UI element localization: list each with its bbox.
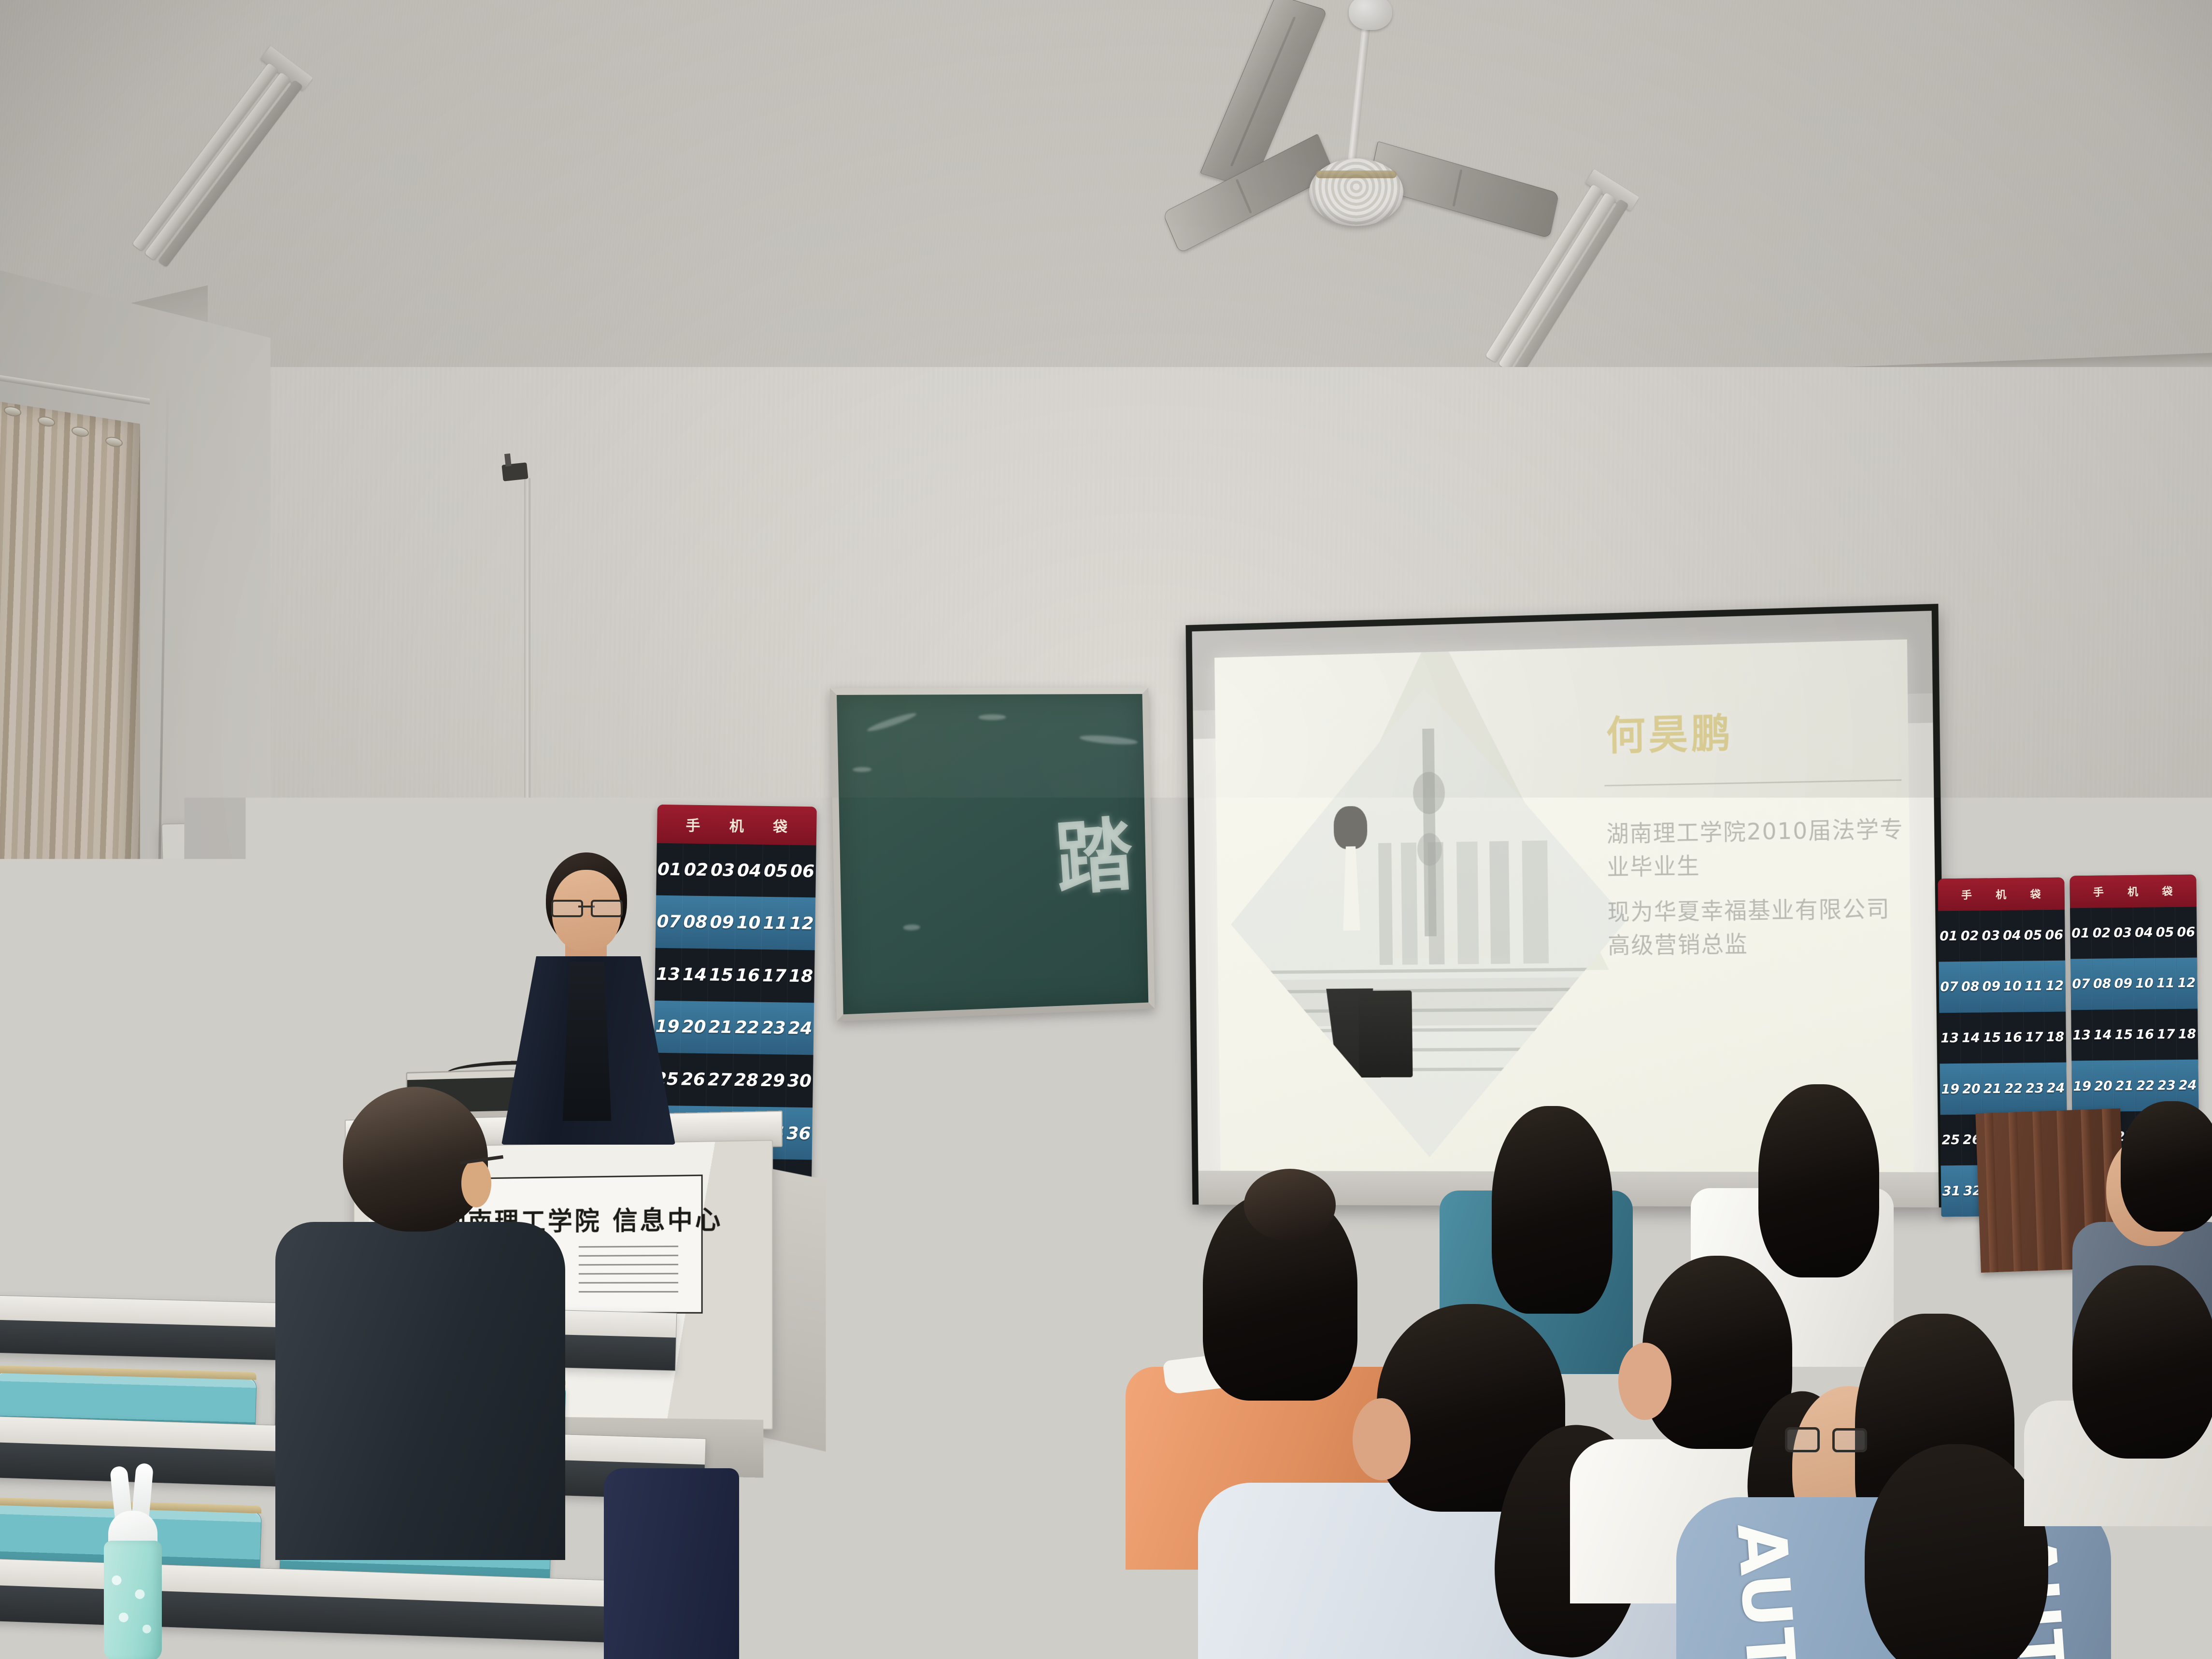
slide-body-line-1: 湖南理工学院2010届法学专业毕业生: [1606, 813, 1909, 884]
phone-pocket[interactable]: 09: [709, 896, 736, 949]
audience-student-far-right-lower: [2043, 1265, 2212, 1497]
phone-pocket[interactable]: 19: [2071, 1061, 2093, 1112]
jacket-back-text: AUT: [1722, 1520, 1810, 1659]
phone-pocket[interactable]: 30: [786, 1055, 813, 1107]
phone-pocket[interactable]: 20: [1961, 1063, 1983, 1115]
phone-pocket[interactable]: 14: [681, 948, 709, 1001]
phone-bag-header-char: 袋: [2030, 886, 2041, 901]
photo-man-bag: [1358, 991, 1413, 1078]
ceiling-fan: [1150, 0, 1584, 304]
smartphone[interactable]: [599, 1324, 696, 1353]
phone-bag-header-char: 机: [729, 814, 745, 836]
slide-diamond-photo: [1228, 682, 1630, 1157]
phone-bag-header-char: 手: [685, 813, 701, 835]
ac-panel-seam: [165, 921, 373, 928]
curtain-grommet: [4, 405, 21, 418]
ac-slot: [249, 936, 298, 941]
phone-pocket[interactable]: 15: [1982, 1012, 2003, 1063]
phone-pocket[interactable]: 10: [2134, 958, 2155, 1009]
ac-barcode-label: [339, 988, 368, 1013]
phone-pocket[interactable]: 08: [1960, 962, 1982, 1013]
phone-pocket[interactable]: 04: [2001, 910, 2023, 961]
phone-pocket[interactable]: 06: [789, 845, 816, 897]
phone-bag-header: 手 机 袋: [1938, 878, 2065, 911]
ac-air-vent: [196, 832, 357, 923]
phone-pocket[interactable]: 25: [1940, 1115, 1962, 1166]
phone-pocket[interactable]: 22: [734, 1002, 761, 1054]
phone-pocket[interactable]: 18: [787, 950, 815, 1003]
phone-pocket[interactable]: 06: [2043, 909, 2065, 961]
curtain-grommet: [38, 415, 55, 428]
phone-pocket[interactable]: 07: [1939, 962, 1960, 1013]
phone-pocket[interactable]: 27: [706, 1053, 734, 1106]
phone-pocket[interactable]: 28: [733, 1054, 760, 1106]
bunny-water-bottle[interactable]: [104, 1463, 162, 1659]
phone-bag-header-char: 机: [2127, 883, 2139, 899]
phone-pocket[interactable]: 02: [2091, 907, 2113, 959]
ac-power-led-icon: [240, 959, 248, 967]
phone-pocket[interactable]: 21: [707, 1001, 735, 1054]
phone-pocket[interactable]: 23: [2024, 1063, 2046, 1114]
phone-pocket[interactable]: 04: [2133, 907, 2155, 958]
phone-pocket[interactable]: 02: [683, 843, 710, 896]
fan-downrod: [1347, 23, 1370, 168]
phone-pocket[interactable]: 17: [761, 950, 788, 1002]
phone-pocket[interactable]: 05: [2155, 907, 2176, 958]
photo-businessman: [1306, 806, 1395, 1068]
student-ear: [1353, 1398, 1411, 1480]
phone-pocket[interactable]: 15: [708, 949, 735, 1001]
phone-bag-header-char: 袋: [773, 815, 788, 836]
phone-pocket[interactable]: 08: [2092, 959, 2113, 1010]
phone-pocket[interactable]: 24: [787, 1002, 814, 1055]
student-hair-bun: [1244, 1169, 1336, 1241]
phone-bag-header-char: 袋: [2162, 883, 2173, 898]
phone-pocket[interactable]: 26: [680, 1053, 707, 1106]
slide-body-line-2: 现为华夏幸福基业有限公司高级营销总监: [1607, 893, 1910, 963]
chalk-smudge: [978, 714, 1006, 720]
phone-pocket[interactable]: 16: [2134, 1009, 2156, 1060]
classroom-scene: 踏 何昊鹏 湖南理工学院: [0, 0, 2212, 1659]
ac-spec-label: [338, 935, 368, 978]
slide-divider-rule: [1604, 780, 1901, 787]
phone-pocket[interactable]: 14: [2092, 1009, 2114, 1061]
man-head: [343, 1087, 488, 1232]
photo-man-head: [1333, 806, 1367, 850]
phone-pocket[interactable]: 01: [1938, 910, 1960, 962]
phone-pocket[interactable]: 18: [2177, 1008, 2198, 1060]
fan-ceiling-mount: [1349, 0, 1392, 30]
phone-pocket[interactable]: 11: [762, 897, 789, 950]
cardboard-box: [842, 1283, 971, 1422]
phone-pocket[interactable]: 01: [2070, 907, 2092, 959]
phone-pocket[interactable]: 18: [2045, 1011, 2067, 1063]
window-curtain[interactable]: [0, 401, 140, 1211]
phone-pocket[interactable]: 03: [709, 844, 737, 896]
glasses-icon: [1785, 1427, 1867, 1453]
chalk-smudge: [853, 767, 872, 772]
curtain-grommet: [105, 436, 123, 448]
chair-slat: [2032, 1111, 2047, 1271]
phone-pocket[interactable]: 21: [1982, 1063, 2004, 1114]
phone-pocket[interactable]: 11: [2155, 958, 2177, 1009]
bottle-polka-dots: [104, 1546, 162, 1659]
phone-pocket[interactable]: 10: [735, 896, 763, 949]
phone-pocket[interactable]: 29: [759, 1054, 787, 1107]
phone-pocket[interactable]: 05: [2023, 910, 2044, 961]
student-long-hair: [1758, 1084, 1879, 1277]
phone-pocket[interactable]: 19: [1940, 1063, 1961, 1115]
student-face: [1618, 1343, 1671, 1420]
phone-pocket[interactable]: 23: [760, 1002, 788, 1054]
curtain-grommet: [71, 425, 89, 438]
wall-conduit-pipe: [524, 478, 530, 855]
phone-pocket[interactable]: 22: [2003, 1063, 2025, 1114]
phone-pocket[interactable]: 31: [1941, 1165, 1963, 1217]
phone-pocket[interactable]: 04: [736, 844, 763, 897]
glasses-icon: [551, 900, 623, 914]
phone-pocket[interactable]: 20: [681, 1001, 708, 1053]
ac-display-panel[interactable]: [235, 951, 337, 974]
phone-pocket[interactable]: 12: [788, 897, 816, 950]
wall-camera-icon: [501, 462, 528, 481]
phone-pocket[interactable]: 05: [762, 845, 790, 897]
phone-pocket[interactable]: 07: [2070, 959, 2092, 1010]
phone-pocket[interactable]: 16: [734, 949, 762, 1002]
man-dark-polo: [275, 1222, 565, 1560]
student-hair: [2121, 1101, 2212, 1232]
phone-pocket[interactable]: 13: [1939, 1013, 1961, 1064]
chalk-smudge: [903, 924, 920, 931]
wall-stain: [797, 1149, 1068, 1270]
phone-pocket[interactable]: 02: [1959, 910, 1981, 962]
chalk-smudge: [866, 710, 917, 734]
man-ear: [461, 1159, 491, 1207]
phone-pocket[interactable]: 03: [1980, 910, 2002, 962]
phone-pocket[interactable]: 15: [2113, 1009, 2135, 1061]
phone-pocket[interactable]: 17: [2155, 1009, 2177, 1060]
phone-bag-header: 手 机 袋: [657, 805, 817, 845]
phone-bag-header-char: 机: [1996, 886, 2007, 902]
phone-bag-header-char: 手: [2093, 884, 2104, 899]
phone-pocket[interactable]: 17: [2024, 1012, 2045, 1063]
phone-pocket[interactable]: 14: [1960, 1012, 1982, 1063]
blackboard-chalk-text: 踏: [1051, 790, 1136, 911]
photo-skyline: [1378, 840, 1572, 965]
phone-pocket[interactable]: 09: [1981, 961, 2002, 1012]
phone-pocket[interactable]: 08: [682, 896, 710, 949]
phone-pocket[interactable]: 13: [2071, 1010, 2093, 1061]
phone-pocket[interactable]: 12: [2176, 958, 2198, 1009]
phone-pocket[interactable]: 24: [2045, 1063, 2067, 1114]
student-hair: [2072, 1265, 2212, 1459]
chalk-smudge: [1079, 734, 1138, 746]
blackboard[interactable]: 踏: [830, 687, 1155, 1021]
phone-pocket[interactable]: 11: [2023, 961, 2045, 1012]
phone-pocket[interactable]: 36: [785, 1107, 813, 1160]
chair-slat: [2056, 1110, 2071, 1270]
phone-pocket[interactable]: 06: [2175, 907, 2197, 958]
slide-title: 何昊鹏: [1606, 701, 1734, 762]
phone-pocket[interactable]: 10: [2002, 961, 2024, 1012]
student-long-hair: [1865, 1444, 2048, 1659]
phone-pocket[interactable]: 03: [2112, 907, 2134, 959]
chair-slat: [1984, 1113, 1998, 1272]
phone-pocket[interactable]: 09: [2112, 958, 2134, 1009]
fan-motor-hub: [1309, 158, 1403, 226]
phone-pocket[interactable]: 12: [2044, 961, 2066, 1012]
front-seated-man: [271, 1087, 570, 1659]
phone-bag-header: 手 机 袋: [2069, 875, 2197, 908]
phone-bag-header-char: 手: [1961, 887, 1972, 902]
phone-pocket[interactable]: 16: [2002, 1012, 2024, 1063]
chair-slat: [2008, 1112, 2023, 1271]
man-leg: [604, 1468, 739, 1659]
